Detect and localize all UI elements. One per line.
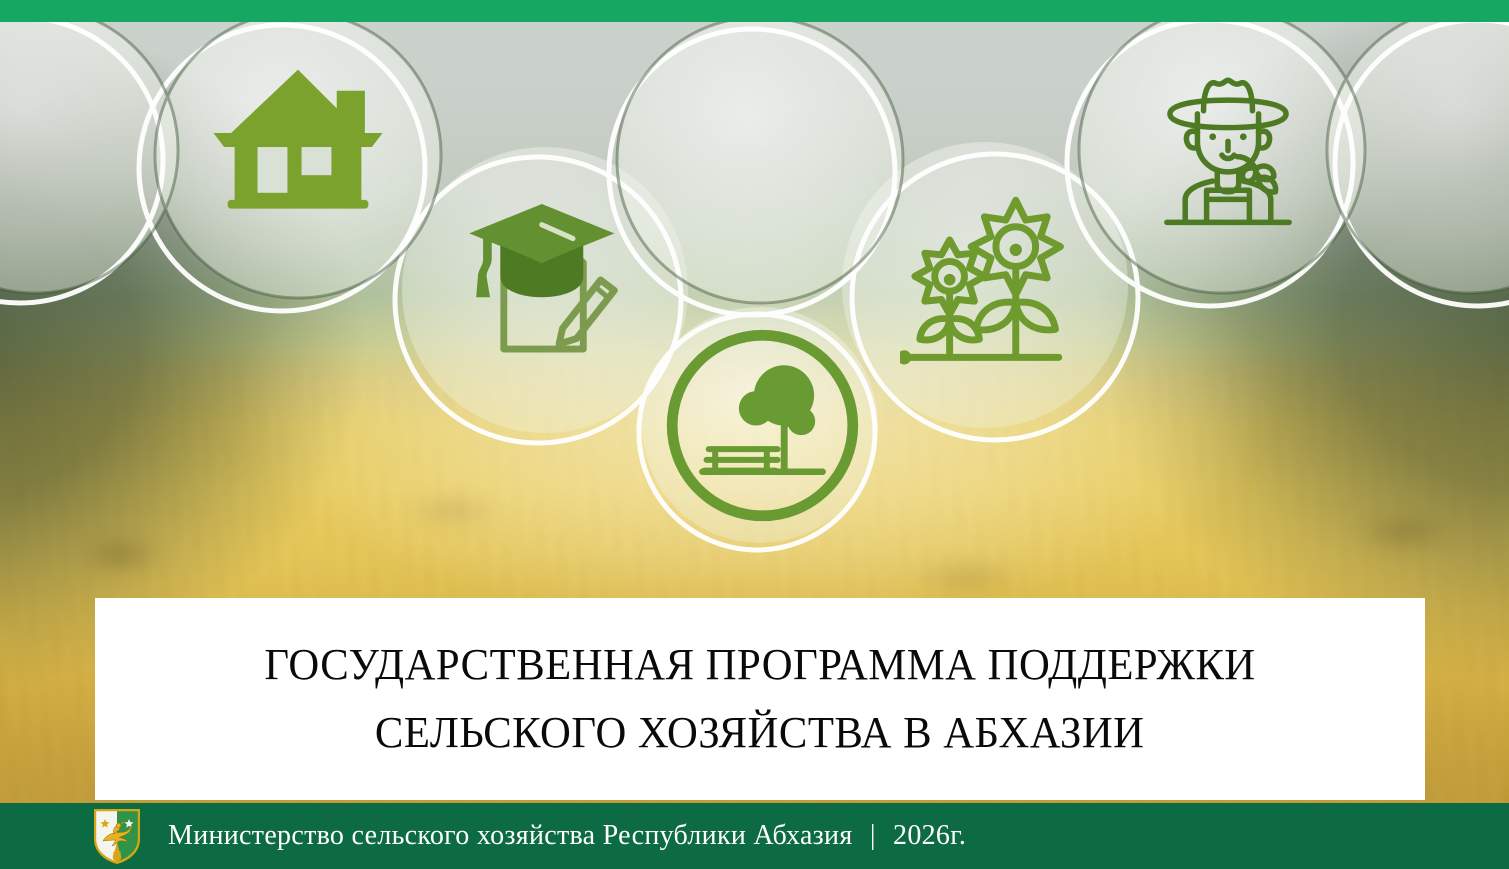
footer-bar: Министерство сельского хозяйства Республ… xyxy=(0,803,1509,869)
hat-crown xyxy=(1204,80,1253,111)
ring-house xyxy=(139,25,425,311)
circle-edge-right-disc xyxy=(1327,7,1509,293)
flowers-icon xyxy=(900,183,1072,373)
footer-year: 2026г. xyxy=(893,820,966,851)
ring-education xyxy=(395,157,681,443)
house-icon xyxy=(210,52,386,228)
tree-shape xyxy=(739,365,815,468)
hat-brim xyxy=(1170,100,1286,128)
circle-house-disc xyxy=(155,12,441,298)
circle-park-disc xyxy=(642,307,878,543)
ring-farmer xyxy=(1067,20,1353,306)
circle-education-disc xyxy=(402,147,688,433)
ring-edge-right xyxy=(1335,20,1509,306)
document-shape xyxy=(504,239,583,350)
park-tree-icon xyxy=(655,318,870,533)
rim-farmer xyxy=(1079,7,1365,293)
farmer-icon xyxy=(1148,68,1308,230)
circle-farmer-disc xyxy=(1079,7,1365,293)
title-slide: ГОСУДАРСТВЕННАЯ ПРОГРАММА ПОДДЕРЖКИ СЕЛЬ… xyxy=(0,0,1509,869)
rim-edge-right xyxy=(1327,7,1509,293)
page-title-line-1: ГОСУДАРСТВЕННАЯ ПРОГРАММА ПОДДЕРЖКИ xyxy=(264,638,1255,692)
flower-small xyxy=(915,240,984,356)
circle-edge-left-disc xyxy=(0,7,178,293)
flower-large xyxy=(971,200,1060,355)
footer-text: Министерство сельского хозяйства Республ… xyxy=(168,820,966,852)
rim-empty-top xyxy=(617,17,903,303)
plant-sprig xyxy=(1237,157,1275,192)
circle-flowers-disc xyxy=(842,142,1128,428)
ministry-name: Министерство сельского хозяйства Республ… xyxy=(168,820,853,851)
pencil-shape xyxy=(559,280,614,344)
ring-edge-left xyxy=(0,17,163,303)
ring-empty-top xyxy=(609,29,895,315)
title-plate: ГОСУДАРСТВЕННАЯ ПРОГРАММА ПОДДЕРЖКИ СЕЛЬ… xyxy=(95,598,1425,800)
ring-park xyxy=(639,314,875,550)
coat-of-arms-of-abkhazia-icon xyxy=(92,807,142,865)
education-icon xyxy=(452,190,642,370)
ring-flowers xyxy=(852,154,1138,440)
circle-empty-top-disc xyxy=(617,17,903,303)
rim-house xyxy=(155,12,441,298)
bench-shape xyxy=(704,449,777,471)
page-title-line-2: СЕЛЬСКОГО ХОЗЯЙСТВА В АБХАЗИИ xyxy=(375,706,1145,760)
footer-separator: | xyxy=(860,820,886,851)
graduation-cap-shape xyxy=(469,204,614,297)
top-accent-bar xyxy=(0,0,1509,22)
rim-edge-left xyxy=(0,7,178,293)
